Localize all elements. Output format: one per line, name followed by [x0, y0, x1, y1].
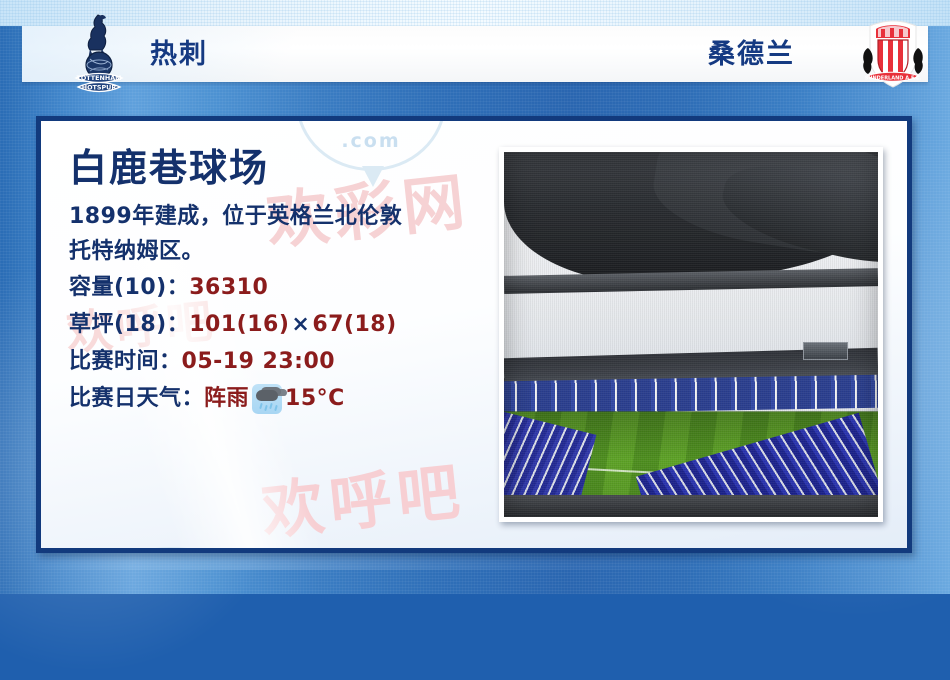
- pitch-dimension-separator: ×: [289, 312, 312, 337]
- kickoff-row: 比赛时间：05-19 23:00: [69, 343, 489, 380]
- rain-drop: [274, 404, 278, 410]
- svg-text:HOTSPUR: HOTSPUR: [82, 84, 117, 92]
- stadium-info-panel: .com .com HHuBa .com HHuBa .com HHuBa 欢彩…: [36, 116, 912, 553]
- tottenham-hotspur-crest: TOTTENHAM HOTSPUR: [68, 12, 130, 98]
- away-team-name: 桑德兰: [708, 36, 795, 74]
- weather-row: 比赛日天气：阵雨 15°C: [69, 380, 489, 417]
- sunderland-afc-crest: SUNDERLAND A.F.C.: [854, 18, 932, 92]
- top-gradient-strip: [0, 0, 950, 26]
- stadium-photo: [504, 152, 878, 517]
- kickoff-label: 比赛时间：: [69, 349, 182, 374]
- weather-condition: 阵雨: [204, 380, 249, 417]
- capacity-value: 36310: [189, 275, 268, 300]
- photo-halftone-texture: [504, 152, 878, 517]
- watermark-brand-bottom: 欢呼吧: [257, 441, 469, 552]
- watermark-bubble-mid: HHuBa .com: [71, 547, 271, 553]
- stadium-name-title: 白鹿巷球场: [69, 143, 489, 193]
- pitch-label: 草坪(18)：: [69, 312, 189, 337]
- pitch-row: 草坪(18)：101(16)×67(18): [69, 306, 489, 343]
- weather-temperature: 15°C: [285, 380, 345, 417]
- stadium-description-line-1: 1899年建成，位于英格兰北伦敦: [69, 199, 489, 234]
- cloud-shape: [256, 390, 278, 401]
- stadium-details: 白鹿巷球场 1899年建成，位于英格兰北伦敦 托特纳姆区。 容量(10)：363…: [69, 143, 489, 417]
- rain-shower-icon: [252, 384, 282, 414]
- rain-drop: [269, 402, 273, 408]
- rain-drop: [259, 402, 263, 408]
- kickoff-value: 05-19 23:00: [182, 349, 336, 374]
- pitch-width-value: 67(18): [312, 312, 396, 337]
- svg-text:TOTTENHAM: TOTTENHAM: [76, 74, 121, 82]
- svg-text:SUNDERLAND A.F.C.: SUNDERLAND A.F.C.: [865, 76, 922, 82]
- weather-label: 比赛日天气：: [69, 380, 204, 417]
- home-team-name: 热刺: [150, 36, 208, 74]
- top-strip-texture: [0, 0, 950, 26]
- stadium-description-line-2: 托特纳姆区。: [69, 234, 489, 269]
- capacity-label: 容量(10)：: [69, 275, 189, 300]
- pitch-length-value: 101(16): [189, 312, 289, 337]
- capacity-row: 容量(10)：36310: [69, 269, 489, 306]
- stadium-photo-frame: [499, 147, 883, 522]
- rain-drop: [264, 404, 268, 410]
